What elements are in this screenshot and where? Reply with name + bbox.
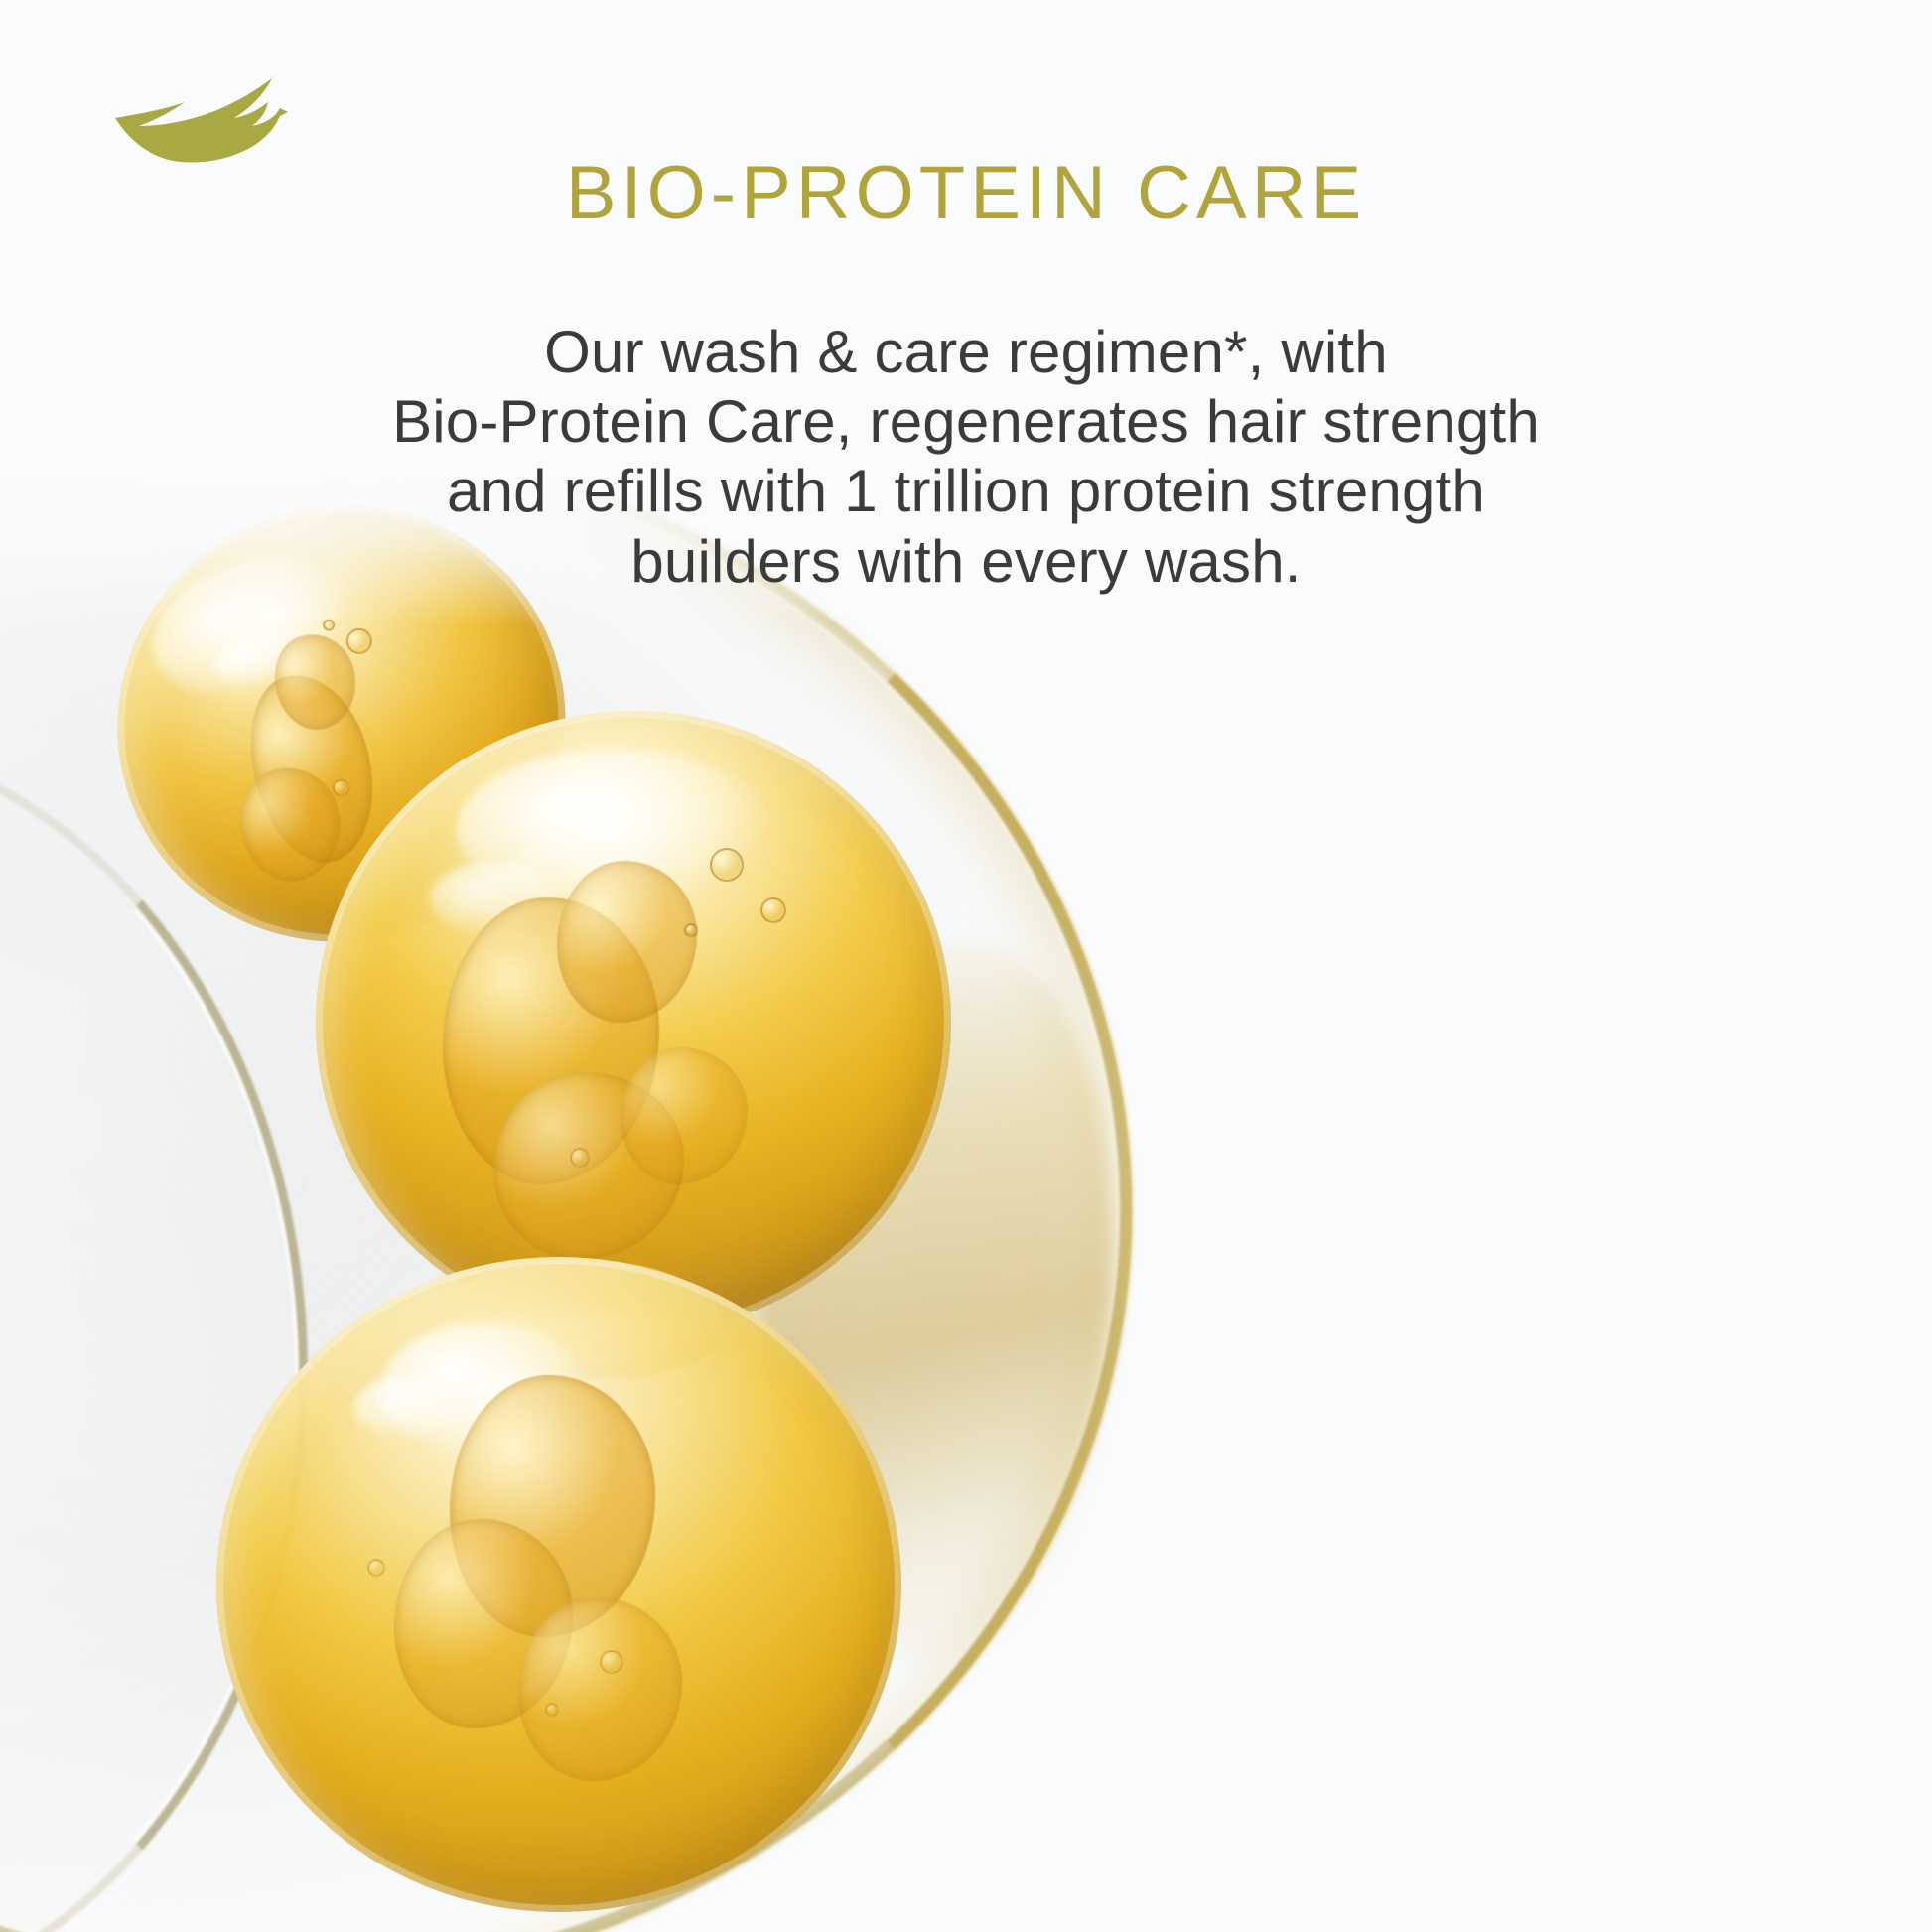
page-title: BIO-PROTEIN CARE [0, 154, 1932, 233]
body-copy: Our wash & care regimen*, with Bio-Prote… [271, 318, 1661, 597]
photo-right-fade [1038, 477, 1932, 1932]
body-copy-line-1: Our wash & care regimen*, with [271, 318, 1661, 387]
body-copy-line-2: Bio-Protein Care, regenerates hair stren… [271, 387, 1661, 457]
droplet-center-large [316, 711, 951, 1334]
droplet-lower [216, 1257, 901, 1912]
product-photo [0, 477, 1932, 1932]
bio-protein-care-ad: BIO-PROTEIN CARE Our wash & care regimen… [0, 0, 1932, 1932]
body-copy-line-3: and refills with 1 trillion protein stre… [271, 457, 1661, 526]
body-copy-line-4: builders with every wash. [271, 527, 1661, 597]
